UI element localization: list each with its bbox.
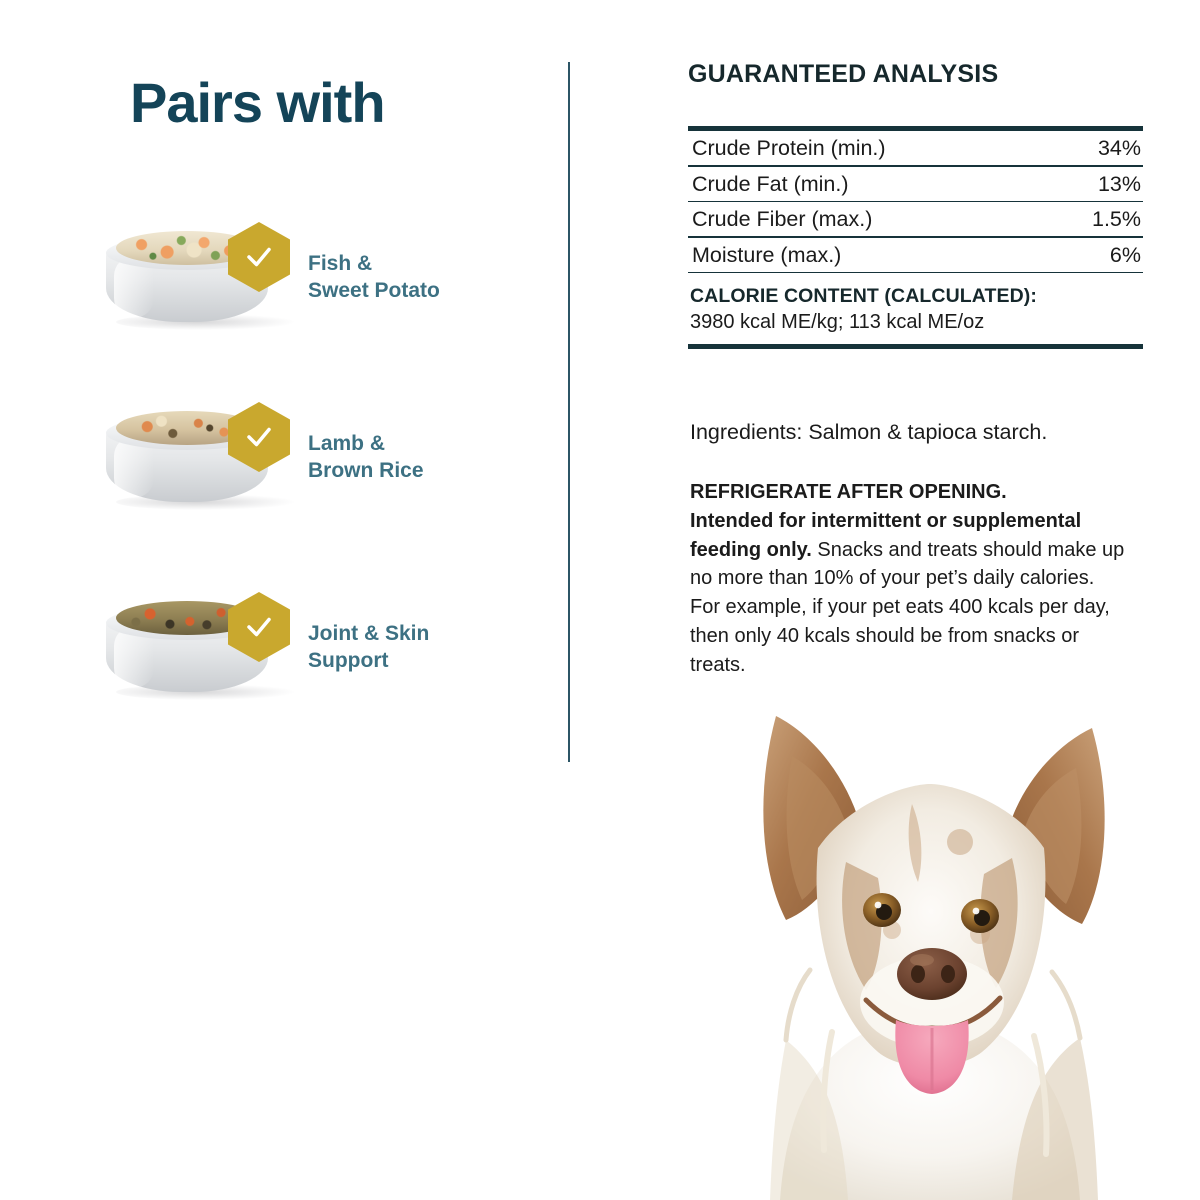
nutrient-label: Crude Fiber (max.) xyxy=(692,207,872,232)
pairing-item-label: Fish & Sweet Potato xyxy=(308,250,528,305)
pairing-item-fish-sweet-potato[interactable]: Fish & Sweet Potato xyxy=(100,222,530,352)
nutrient-label: Moisture (max.) xyxy=(692,243,841,268)
dog-fur-wisp xyxy=(786,970,810,1040)
calorie-content-title: CALORIE CONTENT (CALCULATED): xyxy=(690,285,1143,308)
pairing-item-label: Lamb & Brown Rice xyxy=(308,430,528,485)
nutrient-value: 13% xyxy=(1098,172,1141,197)
pairing-item-joint-skin-support[interactable]: Joint & Skin Support xyxy=(100,592,530,722)
calorie-content-block: CALORIE CONTENT (CALCULATED): 3980 kcal … xyxy=(688,273,1143,344)
dog-food-bowl-icon xyxy=(100,222,290,342)
guaranteed-analysis-table: Crude Protein (min.) 34% Crude Fat (min.… xyxy=(688,126,1143,349)
table-row: Crude Fat (min.) 13% xyxy=(688,167,1143,201)
nutrient-label: Crude Protein (min.) xyxy=(692,136,886,161)
nutrient-label: Crude Fat (min.) xyxy=(692,172,849,197)
dog-nose-highlight xyxy=(910,954,934,966)
dog-fur-wisp xyxy=(1052,972,1080,1038)
calorie-content-value: 3980 kcal ME/kg; 113 kcal ME/oz xyxy=(690,311,1143,334)
pairing-item-lamb-brown-rice[interactable]: Lamb & Brown Rice xyxy=(100,402,530,532)
dog-photo xyxy=(660,672,1200,1200)
border-collie-illustration xyxy=(660,672,1200,1200)
product-detail-panel: Pairs with Fish & Sweet Potato xyxy=(0,0,1200,1200)
table-row: Moisture (max.) 6% xyxy=(688,238,1143,272)
nutrient-value: 1.5% xyxy=(1092,207,1141,232)
dog-eye-highlight-right xyxy=(973,908,980,915)
dog-eye-highlight-left xyxy=(875,902,882,909)
dog-nose xyxy=(897,948,967,1000)
pairing-item-label: Joint & Skin Support xyxy=(308,620,528,675)
table-bottom-rule xyxy=(688,344,1143,349)
dog-nostril-left xyxy=(911,965,925,983)
table-row: Crude Fiber (max.) 1.5% xyxy=(688,202,1143,236)
guaranteed-analysis-heading: GUARANTEED ANALYSIS xyxy=(688,60,998,89)
dog-food-bowl-icon xyxy=(100,402,290,522)
dog-food-bowl-icon xyxy=(100,592,290,712)
feeding-instructions: REFRIGERATE AFTER OPENING. Intended for … xyxy=(690,478,1128,680)
dog-merle-speck xyxy=(947,829,973,855)
ingredients-text: Ingredients: Salmon & tapioca starch. xyxy=(690,420,1150,445)
refrigerate-notice: REFRIGERATE AFTER OPENING. xyxy=(690,481,1007,503)
pairs-with-section: Pairs with Fish & Sweet Potato xyxy=(0,0,560,1200)
nutrient-value: 6% xyxy=(1110,243,1141,268)
vertical-divider xyxy=(568,62,570,762)
table-row: Crude Protein (min.) 34% xyxy=(688,131,1143,165)
dog-nostril-right xyxy=(941,965,955,983)
page-title: Pairs with xyxy=(130,74,385,133)
nutrient-value: 34% xyxy=(1098,136,1141,161)
